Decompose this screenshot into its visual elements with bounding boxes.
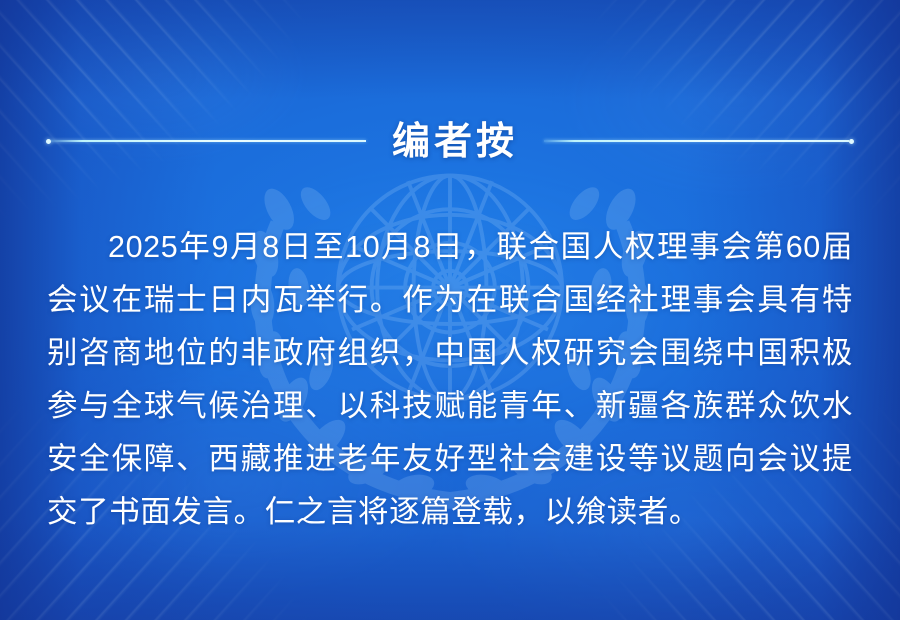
rule-cap-right	[849, 139, 854, 144]
page-title: 编者按	[392, 122, 518, 160]
poster-card: 编者按 2025年9月8日至10月8日，联合国人权理事会第60届会议在瑞士日内瓦…	[0, 0, 900, 620]
title-row: 编者按	[0, 112, 900, 170]
title-rule-left	[51, 140, 366, 142]
title-rule-right	[544, 140, 849, 142]
editor-note-paragraph: 2025年9月8日至10月8日，联合国人权理事会第60届会议在瑞士日内瓦举行。作…	[47, 221, 853, 539]
poster-content: 编者按 2025年9月8日至10月8日，联合国人权理事会第60届会议在瑞士日内瓦…	[0, 0, 900, 620]
